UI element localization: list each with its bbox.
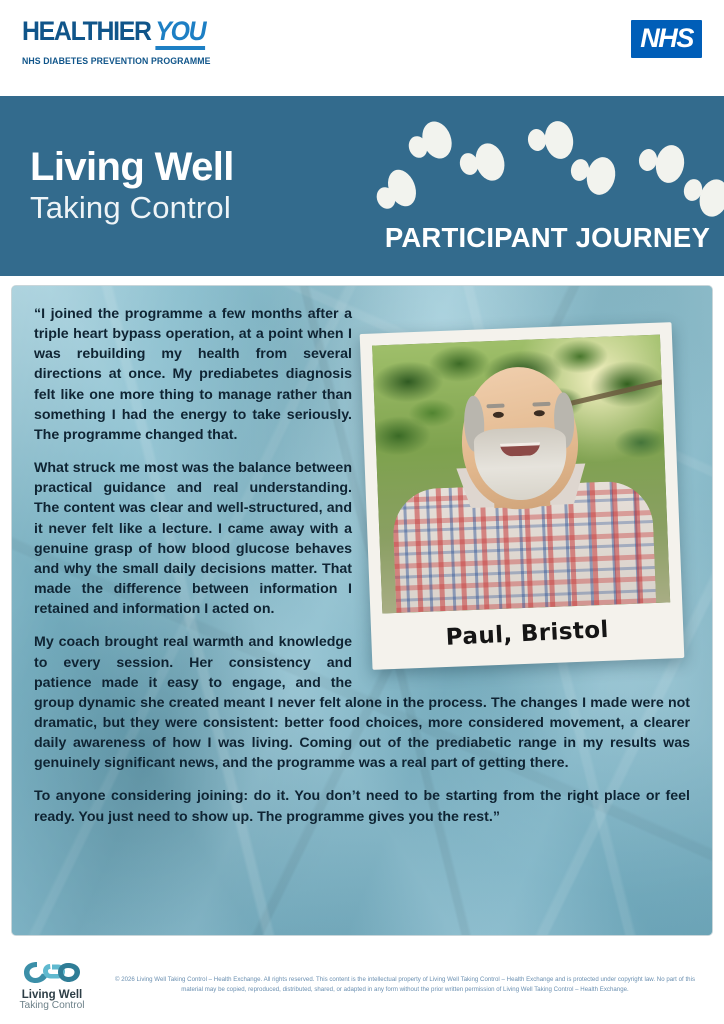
footprints-icon xyxy=(352,100,724,220)
healthier-word: HEALTHIER xyxy=(22,18,151,45)
photo-brow-right xyxy=(532,402,550,407)
story-panel-inner: Paul, Bristol “I joined the programme a … xyxy=(12,286,712,935)
participant-journey-label: PARTICIPANT JOURNEY xyxy=(385,222,710,254)
healthier-you-wordmark: HEALTHIER YOU xyxy=(22,18,205,50)
page-header: HEALTHIER YOU NHS DIABETES PREVENTION PR… xyxy=(0,0,724,96)
living-well-tagline: Taking Control xyxy=(19,1001,84,1012)
title-banner: Living Well Taking Control xyxy=(0,96,724,276)
paragraph-4: To anyone considering joining: do it. Yo… xyxy=(34,786,690,826)
polaroid-frame: Paul, Bristol xyxy=(360,322,685,670)
content-area: Paul, Bristol “I joined the programme a … xyxy=(0,276,724,946)
living-well-name: Living Well xyxy=(22,989,83,1001)
banner-title-block: Living Well Taking Control xyxy=(0,147,352,225)
page-footer: Living Well Taking Control © 2026 Living… xyxy=(0,946,724,1024)
photo-scene xyxy=(372,335,670,614)
story-panel: Paul, Bristol “I joined the programme a … xyxy=(11,285,713,936)
photo-brow-left xyxy=(487,404,505,409)
healthier-you-subtitle: NHS DIABETES PREVENTION PROGRAMME xyxy=(22,57,211,66)
living-well-logo: Living Well Taking Control xyxy=(14,959,90,1012)
banner-subtitle: Taking Control xyxy=(30,190,352,226)
you-word: YOU xyxy=(155,18,205,50)
banner-title: Living Well xyxy=(30,147,352,188)
chain-link-icon xyxy=(22,959,82,986)
banner-right-block: PARTICIPANT JOURNEY xyxy=(352,96,724,276)
healthier-you-logo: HEALTHIER YOU NHS DIABETES PREVENTION PR… xyxy=(22,18,223,66)
copyright-notice: © 2026 Living Well Taking Control – Heal… xyxy=(100,975,710,995)
nhs-logo: NHS xyxy=(631,20,702,58)
poster-page: HEALTHIER YOU NHS DIABETES PREVENTION PR… xyxy=(0,0,724,1024)
photo-container: Paul, Bristol xyxy=(366,328,696,664)
participant-photo xyxy=(372,335,670,614)
